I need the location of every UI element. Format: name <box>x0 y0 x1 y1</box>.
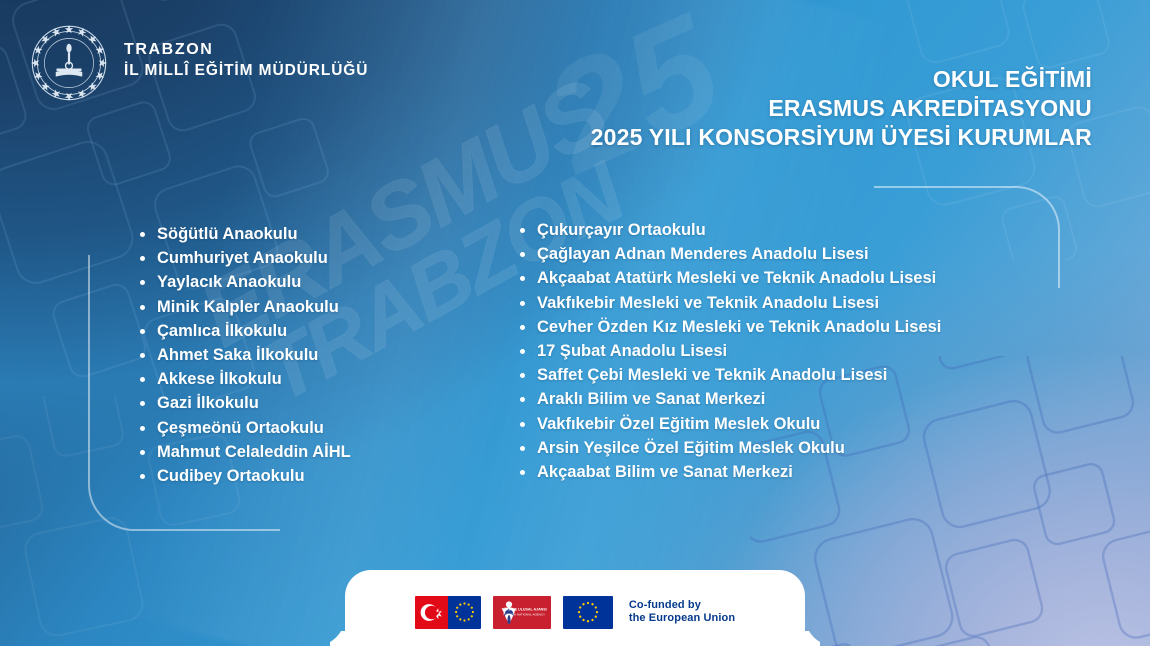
header-directorate: İL MİLLÎ EĞİTİM MÜDÜRLÜĞÜ <box>124 60 368 82</box>
list-item: Saffet Çebi Mesleki ve Teknik Anadolu Li… <box>512 363 941 387</box>
footer-logo-bar: TÜRKİYE ULUSAL AJANSI TURKISH NATIONAL A… <box>345 570 805 646</box>
list-item: Vakfıkebir Özel Eğitim Meslek Okulu <box>512 412 941 436</box>
list-item: Ahmet Saka İlkokulu <box>132 343 351 367</box>
list-right-items: Çukurçayır Ortaokulu Çağlayan Adnan Mend… <box>512 218 941 484</box>
list-item: Yaylacık Anaokulu <box>132 270 351 294</box>
header-org-text: TRABZON İL MİLLÎ EĞİTİM MÜDÜRLÜĞÜ <box>124 40 368 82</box>
list-item: 17 Şubat Anadolu Lisesi <box>512 339 941 363</box>
list-item: Çamlıca İlkokulu <box>132 319 351 343</box>
page-title: OKUL EĞİTİMİ ERASMUS AKREDİTASYONU 2025 … <box>412 65 1092 152</box>
list-item: Söğütlü Anaokulu <box>132 222 351 246</box>
list-item: Arsin Yeşilce Özel Eğitim Meslek Okulu <box>512 436 941 460</box>
poster-canvas: 25 ERASMUS TRABZON <box>0 0 1150 646</box>
cofunded-line-2: the European Union <box>629 612 735 626</box>
cofunded-line-1: Co-funded by <box>629 599 735 613</box>
list-item: Minik Kalpler Anaokulu <box>132 295 351 319</box>
turkey-eu-flag-icon <box>415 596 481 629</box>
mebi-seal-icon <box>30 24 108 102</box>
cofunded-text: Co-funded by the European Union <box>629 599 735 626</box>
list-item: Cumhuriyet Anaokulu <box>132 246 351 270</box>
list-left-items: Söğütlü Anaokulu Cumhuriyet Anaokulu Yay… <box>132 222 351 488</box>
list-item: Cevher Özden Kız Mesleki ve Teknik Anado… <box>512 315 941 339</box>
turkiye-ulusal-ajansi-logo: TÜRKİYE ULUSAL AJANSI TURKISH NATIONAL A… <box>493 596 551 629</box>
list-item: Akçaabat Bilim ve Sanat Merkezi <box>512 460 941 484</box>
svg-text:TÜRKİYE ULUSAL AJANSI: TÜRKİYE ULUSAL AJANSI <box>501 606 546 611</box>
list-item: Çağlayan Adnan Menderes Anadolu Lisesi <box>512 242 941 266</box>
institution-list-right: Çukurçayır Ortaokulu Çağlayan Adnan Mend… <box>512 218 941 484</box>
title-line-3: 2025 YILI KONSORSİYUM ÜYESİ KURUMLAR <box>412 123 1092 152</box>
list-item: Cudibey Ortaokulu <box>132 464 351 488</box>
european-union-flag-icon <box>563 596 613 629</box>
list-item: Akkese İlkokulu <box>132 367 351 391</box>
list-item: Çukurçayır Ortaokulu <box>512 218 941 242</box>
institution-list-left: Söğütlü Anaokulu Cumhuriyet Anaokulu Yay… <box>132 222 351 488</box>
title-line-2: ERASMUS AKREDİTASYONU <box>412 94 1092 123</box>
list-item: Çeşmeönü Ortaokulu <box>132 416 351 440</box>
list-item: Vakfıkebir Mesleki ve Teknik Anadolu Lis… <box>512 291 941 315</box>
list-item: Mahmut Celaleddin AİHL <box>132 440 351 464</box>
title-line-1: OKUL EĞİTİMİ <box>412 65 1092 94</box>
header-city: TRABZON <box>124 40 368 60</box>
list-item: Gazi İlkokulu <box>132 391 351 415</box>
svg-text:TURKISH NATIONAL AGENCY: TURKISH NATIONAL AGENCY <box>503 612 545 616</box>
list-item: Akçaabat Atatürk Mesleki ve Teknik Anado… <box>512 266 941 290</box>
list-item: Araklı Bilim ve Sanat Merkezi <box>512 387 941 411</box>
